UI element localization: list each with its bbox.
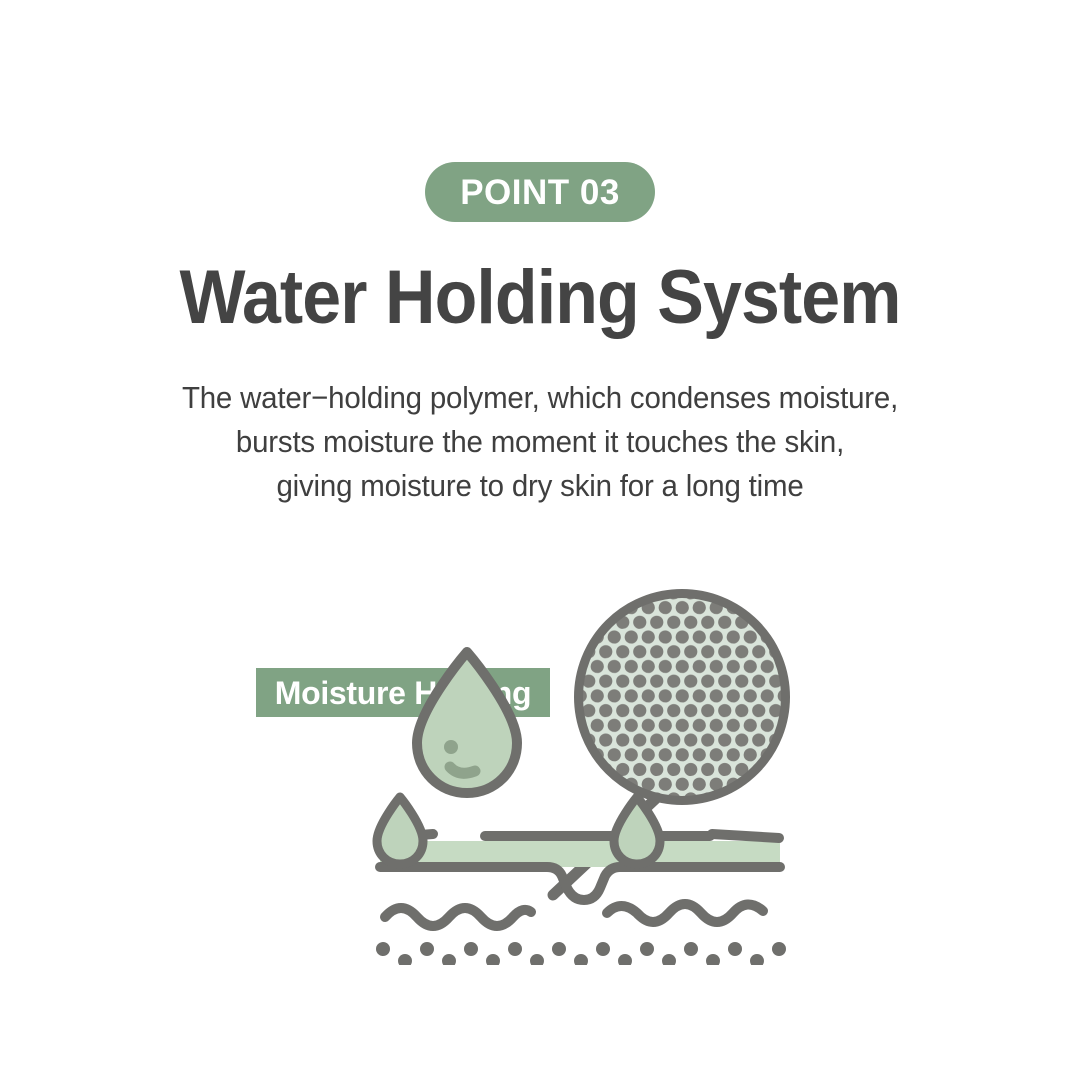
skin-surface-segment-5 xyxy=(712,834,779,838)
dot-row-lower xyxy=(398,954,764,965)
description-text: The water−holding polymer, which condens… xyxy=(27,376,1053,508)
description-line-2: bursts moisture the moment it touches th… xyxy=(27,420,1053,464)
point-badge-label: POINT 03 xyxy=(460,175,620,210)
page-title: Water Holding System xyxy=(43,258,1037,338)
description-line-1: The water−holding polymer, which condens… xyxy=(27,376,1053,420)
water-holding-illustration xyxy=(355,545,815,965)
dot-row-upper xyxy=(376,942,786,956)
droplet-highlight-dot xyxy=(444,740,458,754)
droplet-highlight-curve xyxy=(450,767,475,773)
point-badge: POINT 03 xyxy=(425,162,655,222)
dermis-wave-left xyxy=(385,908,531,926)
water-droplet-small-left-icon xyxy=(377,797,423,864)
description-line-3: giving moisture to dry skin for a long t… xyxy=(27,464,1053,508)
infographic-page: POINT 03 Water Holding System The water−… xyxy=(0,0,1080,1080)
skin-layer-fill-center xyxy=(550,841,598,867)
dermis-wave-right xyxy=(607,904,763,922)
